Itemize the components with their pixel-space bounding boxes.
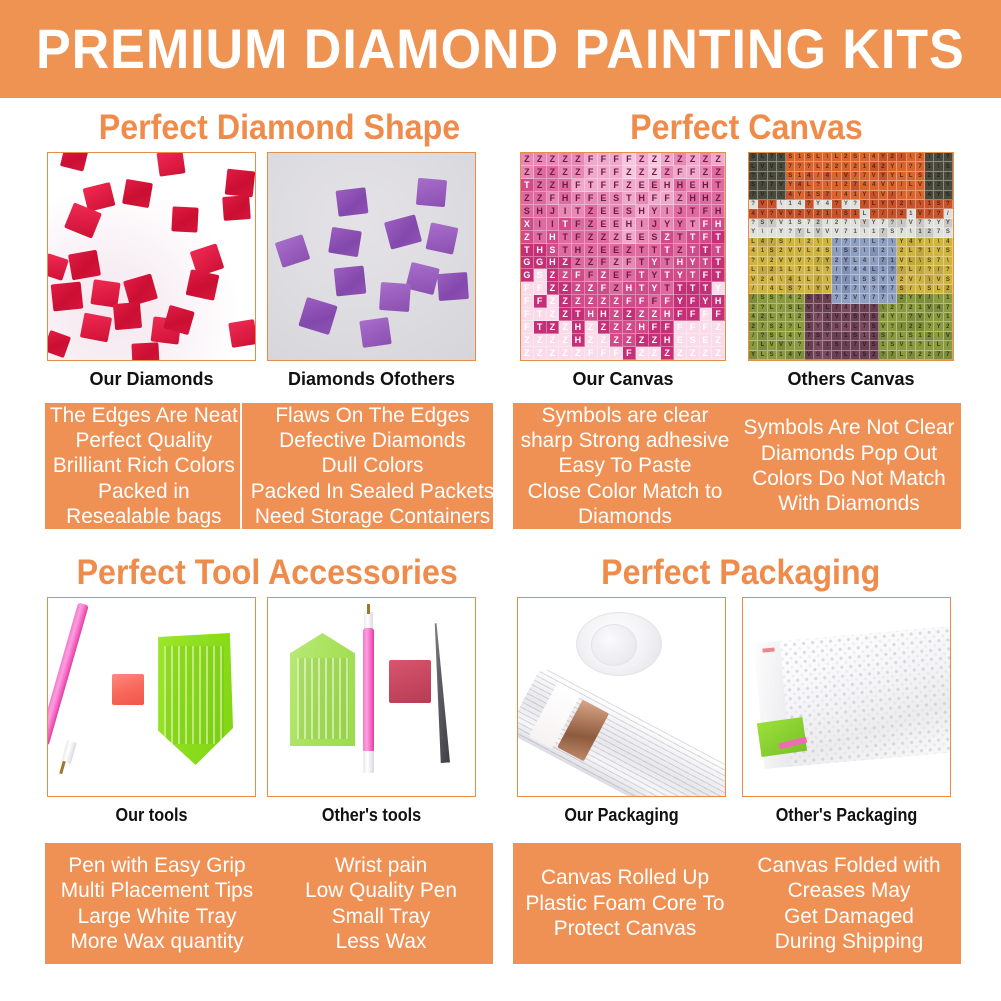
canvas-symbol-cell: V (814, 228, 823, 237)
canvas-symbol-cell: 2 (823, 162, 832, 171)
photo-others-canvas: SL7VS1SL\L2S14Y2/\2\2?LVV17??L22Y2142Y/?… (748, 152, 954, 361)
canvas-symbol-cell: Z (559, 269, 572, 282)
canvas-symbol-cell: E (700, 334, 713, 347)
canvas-symbol-cell: T (687, 218, 700, 231)
text-line: Plastic Foam Core To (526, 891, 725, 916)
canvas-symbol-cell: Y (661, 218, 674, 231)
canvas-symbol-cell: 1 (888, 257, 897, 266)
canvas-symbol-cell: 4 (795, 200, 804, 209)
canvas-symbol-cell: 2 (944, 322, 953, 331)
canvas-symbol-cell: L (768, 304, 777, 313)
canvas-symbol-cell: S (860, 351, 869, 360)
canvas-symbol-cell: 7 (870, 294, 879, 303)
canvas-symbol-cell: E (598, 205, 611, 218)
canvas-symbol-cell: L (805, 228, 814, 237)
canvas-symbol-cell: ? (870, 209, 879, 218)
canvas-symbol-cell: V (823, 228, 832, 237)
canvas-symbol-cell: 4 (768, 285, 777, 294)
pen-cap (363, 751, 374, 773)
canvas-symbol-cell: S (944, 162, 953, 171)
canvas-symbol-cell: S (814, 191, 823, 200)
canvas-symbol-cell: ? (823, 322, 832, 331)
canvas-symbol-cell: J (649, 218, 662, 231)
canvas-symbol-cell: S (758, 219, 767, 228)
canvas-symbol-cell: \ (888, 247, 897, 256)
text-line: Large White Tray (78, 904, 237, 929)
canvas-symbol-cell: L (925, 341, 934, 350)
canvas-symbol-cell: 7 (823, 191, 832, 200)
caption-other-packaging: Other's Packaging (752, 806, 940, 824)
wax-square (112, 674, 144, 705)
canvas-symbol-cell: ? (832, 294, 841, 303)
canvas-symbol-cell: V (777, 219, 786, 228)
canvas-symbol-cell: H (661, 179, 674, 192)
caption-our-packaging: Our Packaging (527, 806, 715, 824)
canvas-symbol-cell: F (623, 153, 636, 166)
canvas-symbol-cell: E (598, 244, 611, 257)
canvas-symbol-cell: 2 (795, 313, 804, 322)
canvas-symbol-cell: Z (712, 166, 725, 179)
canvas-symbol-cell: L (897, 332, 906, 341)
textcol-our-diamonds: The Edges Are Neat Perfect Quality Brill… (48, 403, 242, 529)
canvas-symbol-cell: S (823, 247, 832, 256)
caption-our-canvas: Our Canvas (520, 370, 726, 388)
canvas-symbol-cell: Z (610, 321, 623, 334)
canvas-symbol-cell: V (758, 162, 767, 171)
canvas-symbol-cell: F (521, 282, 534, 295)
canvas-symbol-cell: F (572, 192, 585, 205)
canvas-symbol-cell: 4 (860, 266, 869, 275)
canvas-symbol-cell: S (786, 304, 795, 313)
canvas-symbol-cell: E (598, 192, 611, 205)
canvas-symbol-cell: V (888, 275, 897, 284)
canvas-symbol-cell: L (907, 247, 916, 256)
canvas-symbol-cell: H (547, 231, 560, 244)
canvas-symbol-cell: F (547, 192, 560, 205)
drill (425, 222, 458, 254)
canvas-symbol-cell: / (777, 172, 786, 181)
canvas-symbol-cell: 2 (777, 322, 786, 331)
canvas-symbol-cell: Z (610, 282, 623, 295)
canvas-symbol-cell: T (687, 205, 700, 218)
canvas-symbol-cell: E (610, 269, 623, 282)
pen-needle (367, 604, 370, 614)
canvas-symbol-cell: \ (888, 294, 897, 303)
drill (379, 282, 411, 312)
canvas-symbol-cell: F (598, 166, 611, 179)
canvas-symbol-cell: F (661, 192, 674, 205)
canvas-symbol-cell: S (851, 313, 860, 322)
canvas-symbol-cell: Z (712, 153, 725, 166)
canvas-symbol-cell: \ (934, 162, 943, 171)
canvas-symbol-cell: Z (585, 334, 598, 347)
canvas-symbol-cell: S (842, 247, 851, 256)
canvas-symbol-cell: T (712, 244, 725, 257)
canvas-symbol-cell: Y (888, 200, 897, 209)
canvas-symbol-cell: \ (758, 266, 767, 275)
canvas-symbol-cell: ? (805, 257, 814, 266)
canvas-symbol-cell: Y (870, 219, 879, 228)
canvas-symbol-cell: F (585, 269, 598, 282)
canvas-symbol-cell: Y (860, 313, 869, 322)
canvas-symbol-cell: \ (860, 238, 869, 247)
canvas-symbol-cell: 7 (842, 219, 851, 228)
canvas-symbol-cell: Z (610, 295, 623, 308)
text-line: Dull Colors (321, 453, 423, 478)
canvas-symbol-cell: ? (749, 257, 758, 266)
canvas-symbol-cell: V (916, 209, 925, 218)
canvas-symbol-cell: Z (610, 231, 623, 244)
canvas-symbol-cell: Z (585, 321, 598, 334)
canvas-symbol-cell: F (585, 192, 598, 205)
canvas-symbol-cell: Y (907, 294, 916, 303)
canvas-symbol-cell: Y (879, 200, 888, 209)
canvas-symbol-cell: / (814, 304, 823, 313)
canvas-symbol-cell: Y (879, 285, 888, 294)
canvas-symbol-cell: 4 (786, 351, 795, 360)
section-heading-tool-accessories: Perfect Tool Accessories (77, 555, 458, 590)
canvas-symbol-cell: V (879, 322, 888, 331)
canvas-symbol-cell: ? (879, 351, 888, 360)
canvas-symbol-cell: / (888, 209, 897, 218)
canvas-symbol-cell: \ (777, 191, 786, 200)
canvas-symbol-cell: Z (559, 153, 572, 166)
canvas-symbol-cell: \ (777, 275, 786, 284)
canvas-symbol-cell: F (700, 205, 713, 218)
canvas-symbol-cell: ? (907, 313, 916, 322)
text-line: Small Tray (332, 904, 431, 929)
canvas-symbol-cell: X (521, 218, 534, 231)
canvas-symbol-cell: G (521, 257, 534, 270)
canvas-symbol-cell: ? (786, 228, 795, 237)
canvas-symbol-cell: Z (547, 166, 560, 179)
canvas-symbol-cell: Z (712, 192, 725, 205)
canvas-symbol-cell: 1 (879, 341, 888, 350)
canvas-symbol-cell: / (907, 191, 916, 200)
text-line: With Diamonds (778, 491, 919, 516)
canvas-symbol-cell: 1 (925, 247, 934, 256)
canvas-symbol-cell: Z (649, 347, 662, 360)
canvas-symbol-cell: 7 (888, 332, 897, 341)
canvas-symbol-cell: 2 (925, 172, 934, 181)
canvas-symbol-cell: L (758, 341, 767, 350)
canvas-symbol-cell: Z (585, 282, 598, 295)
canvas-symbol-cell: F (674, 166, 687, 179)
canvas-symbol-cell: 7 (749, 191, 758, 200)
canvas-symbol-cell: H (636, 192, 649, 205)
other-packaging-artwork (743, 598, 950, 796)
canvas-symbol-cell: Z (585, 244, 598, 257)
canvas-symbol-cell: 4 (758, 238, 767, 247)
canvas-symbol-cell: E (636, 179, 649, 192)
text-line: Easy To Paste (559, 453, 692, 478)
canvas-symbol-cell: Y (749, 228, 758, 237)
canvas-symbol-cell: 2 (879, 162, 888, 171)
canvas-symbol-cell: V (795, 247, 804, 256)
canvas-symbol-cell: E (687, 179, 700, 192)
canvas-symbol-cell: L (851, 275, 860, 284)
canvas-symbol-cell: T (559, 218, 572, 231)
textcol-others-canvas: Symbols Are Not Clear Diamonds Pop Out C… (740, 403, 957, 529)
canvas-symbol-cell: 2 (814, 219, 823, 228)
canvas-symbol-cell: Z (585, 205, 598, 218)
canvas-symbol-cell: Z (547, 179, 560, 192)
canvas-symbol-cell: ? (832, 200, 841, 209)
canvas-symbol-cell: F (610, 166, 623, 179)
canvas-symbol-cell: F (610, 153, 623, 166)
textbox-canvas: Symbols are clear sharp Strong adhesive … (513, 403, 961, 529)
canvas-symbol-cell: 1 (860, 162, 869, 171)
canvas-symbol-cell: Z (559, 166, 572, 179)
canvas-symbol-cell: 1 (860, 153, 869, 162)
photo-our-diamonds (47, 152, 256, 361)
canvas-symbol-cell: S (786, 285, 795, 294)
canvas-symbol-cell: Y (795, 351, 804, 360)
canvas-symbol-cell: Z (534, 179, 547, 192)
canvas-symbol-cell: 4 (768, 275, 777, 284)
canvas-symbol-cell: 1 (777, 351, 786, 360)
canvas-symbol-cell: Z (623, 334, 636, 347)
photo-our-packaging (517, 597, 726, 797)
canvas-symbol-cell: Y (860, 285, 869, 294)
canvas-symbol-cell: L (814, 162, 823, 171)
canvas-symbol-cell: / (934, 266, 943, 275)
canvas-symbol-cell: H (674, 257, 687, 270)
canvas-symbol-cell: \ (870, 191, 879, 200)
canvas-symbol-cell: Z (547, 321, 560, 334)
canvas-symbol-cell: 1 (805, 322, 814, 331)
canvas-symbol-cell: ? (805, 200, 814, 209)
canvas-symbol-cell: 4 (749, 247, 758, 256)
canvas-symbol-cell: 7 (879, 219, 888, 228)
canvas-symbol-cell: Y (879, 153, 888, 162)
canvas-symbol-cell: Z (623, 308, 636, 321)
canvas-symbol-cell: Z (636, 308, 649, 321)
canvas-symbol-cell: L (870, 266, 879, 275)
canvas-symbol-cell: ? (851, 200, 860, 209)
canvas-symbol-cell: F (572, 231, 585, 244)
canvas-symbol-cell: V (934, 275, 943, 284)
canvas-symbol-cell: H (572, 334, 585, 347)
text-line: Pen with Easy Grip (68, 853, 245, 878)
canvas-symbol-cell: \ (934, 294, 943, 303)
canvas-symbol-cell: F (572, 269, 585, 282)
canvas-symbol-cell: 4 (870, 181, 879, 190)
canvas-symbol-cell: L (851, 322, 860, 331)
canvas-symbol-cell: T (534, 308, 547, 321)
canvas-symbol-cell: L (870, 200, 879, 209)
canvas-symbol-cell: Y (786, 181, 795, 190)
canvas-symbol-cell: F (661, 321, 674, 334)
canvas-symbol-cell: T (534, 231, 547, 244)
text-line: Get Damaged (784, 904, 914, 929)
canvas-symbol-cell: Y (777, 228, 786, 237)
canvas-symbol-cell: Y (649, 269, 662, 282)
canvas-symbol-cell: 2 (934, 181, 943, 190)
canvas-symbol-cell: V (897, 257, 906, 266)
canvas-symbol-cell: S (768, 332, 777, 341)
canvas-symbol-cell: 7 (934, 228, 943, 237)
canvas-symbol-cell: H (661, 334, 674, 347)
canvas-symbol-cell: H (572, 244, 585, 257)
canvas-symbol-cell: ? (795, 285, 804, 294)
textbox-packaging: Canvas Rolled Up Plastic Foam Core To Pr… (513, 843, 961, 964)
canvas-symbol-cell: F (623, 269, 636, 282)
canvas-symbol-cell: F (598, 257, 611, 270)
photo-our-tools (47, 597, 256, 797)
canvas-symbol-cell: 4 (749, 209, 758, 218)
canvas-symbol-cell: F (534, 295, 547, 308)
canvas-symbol-cell: 4 (749, 313, 758, 322)
canvas-symbol-cell: F (585, 347, 598, 360)
canvas-symbol-cell: \ (832, 209, 841, 218)
drill (113, 302, 142, 330)
canvas-symbol-cell: T (700, 282, 713, 295)
canvas-symbol-cell: \ (860, 247, 869, 256)
canvas-symbol-cell: L (758, 351, 767, 360)
canvas-symbol-cell: Y (649, 205, 662, 218)
canvas-symbol-cell: \ (832, 285, 841, 294)
canvas-symbol-cell: Z (610, 334, 623, 347)
canvas-symbol-cell: 1 (851, 191, 860, 200)
section-heading-diamond-shape: Perfect Diamond Shape (99, 110, 460, 145)
canvas-symbol-cell: 2 (768, 266, 777, 275)
canvas-symbol-cell: Z (559, 347, 572, 360)
canvas-symbol-cell: ? (925, 322, 934, 331)
canvas-symbol-cell: F (712, 308, 725, 321)
canvas-symbol-cell: \ (823, 181, 832, 190)
canvas-symbol-cell: 7 (879, 257, 888, 266)
canvas-symbol-cell: Z (585, 218, 598, 231)
canvas-symbol-cell: 7 (786, 162, 795, 171)
canvas-symbol-cell: H (623, 218, 636, 231)
canvas-symbol-cell: \ (925, 238, 934, 247)
canvas-symbol-cell: S (870, 275, 879, 284)
canvas-symbol-cell: Y (860, 219, 869, 228)
canvas-symbol-cell: I (636, 218, 649, 231)
canvas-symbol-cell: Z (623, 321, 636, 334)
section-heading-packaging: Perfect Packaging (601, 555, 880, 590)
canvas-symbol-cell: F (521, 321, 534, 334)
canvas-symbol-cell: \ (925, 275, 934, 284)
canvas-symbol-cell: Z (585, 295, 598, 308)
canvas-symbol-cell: Z (559, 295, 572, 308)
canvas-symbol-cell: 4 (870, 153, 879, 162)
canvas-symbol-cell: T (534, 321, 547, 334)
canvas-symbol-cell: Y (916, 238, 925, 247)
canvas-symbol-cell: 2 (907, 304, 916, 313)
canvas-symbol-cell: S (758, 294, 767, 303)
canvas-symbol-cell: 2 (888, 304, 897, 313)
canvas-symbol-cell: Z (623, 166, 636, 179)
canvas-symbol-cell: 2 (888, 153, 897, 162)
canvas-symbol-cell: F (572, 218, 585, 231)
canvas-symbol-cell: Z (521, 166, 534, 179)
canvas-symbol-cell: \ (832, 332, 841, 341)
canvas-symbol-cell: 1 (805, 191, 814, 200)
canvas-symbol-cell: Y (888, 313, 897, 322)
canvas-symbol-cell: H (559, 179, 572, 192)
canvas-symbol-cell: L (823, 304, 832, 313)
canvas-symbol-cell: V (777, 257, 786, 266)
canvas-symbol-cell: H (661, 308, 674, 321)
canvas-symbol-cell: F (661, 295, 674, 308)
canvas-symbol-cell: 7 (851, 181, 860, 190)
canvas-symbol-cell: F (598, 179, 611, 192)
canvas-symbol-cell: 4 (851, 266, 860, 275)
canvas-symbol-cell: Y (777, 313, 786, 322)
canvas-symbol-cell: ? (944, 266, 953, 275)
canvas-symbol-cell: ? (758, 304, 767, 313)
canvas-symbol-cell: Y (860, 294, 869, 303)
canvas-symbol-cell: 7 (768, 238, 777, 247)
canvas-symbol-cell: F (585, 153, 598, 166)
canvas-symbol-cell: S (687, 334, 700, 347)
canvas-symbol-cell: T (687, 282, 700, 295)
canvas-symbol-cell: S (768, 322, 777, 331)
canvas-symbol-cell: V (786, 257, 795, 266)
canvas-symbol-cell: S (814, 332, 823, 341)
canvas-symbol-cell: V (879, 181, 888, 190)
canvas-symbol-cell: 7 (944, 304, 953, 313)
canvas-symbol-cell: S (805, 313, 814, 322)
canvas-symbol-cell: Z (687, 347, 700, 360)
canvas-symbol-cell: 7 (860, 322, 869, 331)
canvas-symbol-cell: V (888, 181, 897, 190)
canvas-symbol-cell: \ (842, 341, 851, 350)
canvas-symbol-cell: 2 (916, 153, 925, 162)
canvas-symbol-cell: V (805, 304, 814, 313)
canvas-symbol-cell: V (758, 191, 767, 200)
canvas-symbol-cell: \ (916, 200, 925, 209)
canvas-symbol-cell: 2 (879, 247, 888, 256)
canvas-symbol-cell: F (598, 282, 611, 295)
canvas-symbol-cell: ? (823, 266, 832, 275)
canvas-symbol-cell: 4 (907, 238, 916, 247)
textbox-tool-accessories: Pen with Easy Grip Multi Placement Tips … (45, 843, 493, 964)
canvas-symbol-cell: 1 (814, 294, 823, 303)
canvas-symbol-cell: S (749, 181, 758, 190)
text-line: Diamonds (578, 504, 672, 529)
canvas-symbol-cell: T (585, 179, 598, 192)
canvas-symbol-cell: \ (805, 285, 814, 294)
canvas-symbol-cell: 2 (897, 247, 906, 256)
text-line: Low Quality Pen (305, 878, 457, 903)
canvas-symbol-cell: L (907, 181, 916, 190)
canvas-symbol-cell: \ (934, 332, 943, 341)
canvas-symbol-cell: L (795, 304, 804, 313)
canvas-symbol-cell: / (860, 304, 869, 313)
canvas-symbol-cell: 1 (832, 181, 841, 190)
canvas-symbol-cell: F (687, 308, 700, 321)
text-line: Multi Placement Tips (61, 878, 253, 903)
drill (334, 266, 367, 297)
canvas-symbol-cell: / (786, 238, 795, 247)
canvas-symbol-cell: V (777, 181, 786, 190)
canvas-symbol-cell: S (944, 191, 953, 200)
canvas-symbol-cell: H (712, 218, 725, 231)
canvas-symbol-cell: T (674, 231, 687, 244)
canvas-symbol-cell: 7 (842, 228, 851, 237)
canvas-symbol-cell: \ (916, 191, 925, 200)
canvas-symbol-cell: 7 (851, 285, 860, 294)
canvas-symbol-cell: / (851, 238, 860, 247)
canvas-symbol-cell: 4 (925, 191, 934, 200)
canvas-symbol-cell: 4 (823, 200, 832, 209)
caption-other-tools: Other's tools (277, 806, 465, 824)
canvas-symbol-cell: Z (547, 282, 560, 295)
text-line: Wrist pain (335, 853, 427, 878)
